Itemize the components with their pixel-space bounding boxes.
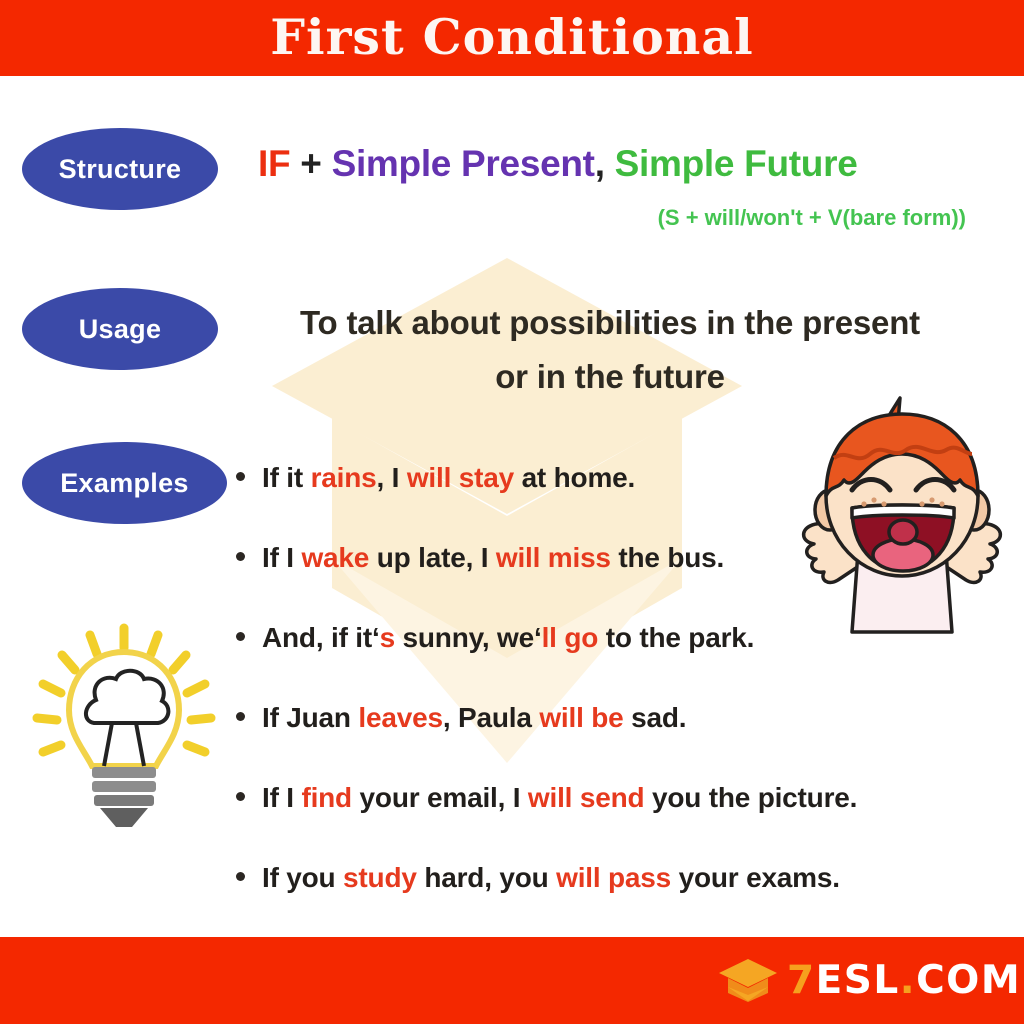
label-examples-text: Examples — [60, 468, 188, 499]
sentence-text: you the picture. — [644, 782, 857, 813]
highlighted-verb: will miss — [496, 542, 611, 573]
example-sentence: If I wake up late, I will miss the bus. — [262, 542, 724, 574]
label-structure: Structure — [22, 128, 218, 210]
page-title: First Conditional — [0, 0, 1024, 76]
example-item: If I find your email, I will send you th… — [236, 782, 966, 862]
label-usage: Usage — [22, 288, 218, 370]
highlighted-verb: ll go — [542, 622, 599, 653]
example-sentence: And, if it‘s sunny, we‘ll go to the park… — [262, 622, 754, 654]
example-sentence: If it rains, I will stay at home. — [262, 462, 635, 494]
sentence-text: , I — [377, 462, 407, 493]
bullet-icon — [236, 792, 245, 801]
sentence-text: If I — [262, 542, 301, 573]
logo-dot: . — [900, 958, 916, 1003]
highlighted-verb: leaves — [358, 702, 442, 733]
site-logo[interactable]: 7ESL.COM — [718, 952, 1021, 1008]
sentence-text: up late, I — [369, 542, 496, 573]
graduation-cap-icon — [718, 957, 778, 1003]
structure-formula: IF + Simple Present, Simple Future — [258, 143, 857, 185]
sentence-text: , Paula — [443, 702, 539, 733]
logo-seven: 7 — [787, 958, 816, 1003]
sentence-text: hard, you — [417, 862, 556, 893]
token-plus: + — [290, 143, 331, 184]
label-usage-text: Usage — [79, 314, 162, 345]
sentence-text: If I — [262, 782, 301, 813]
structure-subtitle: (S + will/won't + V(bare form)) — [0, 205, 966, 231]
example-sentence: If I find your email, I will send you th… — [262, 782, 857, 814]
token-simple-future: Simple Future — [615, 143, 858, 184]
lightbulb-icon — [24, 622, 224, 837]
bullet-icon — [236, 472, 245, 481]
laughing-boy-illustration — [786, 392, 1018, 640]
logo-esl: ESL — [816, 958, 900, 1003]
sentence-text: your exams. — [671, 862, 840, 893]
highlighted-verb: rains — [311, 462, 377, 493]
sentence-text: your email, I — [352, 782, 528, 813]
highlighted-verb: will pass — [556, 862, 671, 893]
usage-description: To talk about possibilities in the prese… — [250, 296, 970, 404]
sentence-text: If it — [262, 462, 311, 493]
sentence-text: And, if it‘ — [262, 622, 380, 653]
sentence-text: If you — [262, 862, 343, 893]
token-simple-present: Simple Present — [332, 143, 595, 184]
bullet-icon — [236, 632, 245, 641]
sentence-text: sunny, we‘ — [395, 622, 542, 653]
bullet-icon — [236, 552, 245, 561]
highlighted-verb: wake — [301, 542, 369, 573]
usage-line-1: To talk about possibilities in the prese… — [250, 296, 970, 350]
sentence-text: If Juan — [262, 702, 358, 733]
highlighted-verb: find — [301, 782, 352, 813]
logo-wordmark: 7ESL.COM — [787, 958, 1021, 1003]
label-examples: Examples — [22, 442, 227, 524]
bullet-icon — [236, 872, 245, 881]
infographic-poster: First Conditional Structure Usage Exampl… — [0, 0, 1024, 1024]
example-item: If Juan leaves, Paula will be sad. — [236, 702, 966, 782]
token-if: IF — [258, 143, 290, 184]
sentence-text: at home. — [514, 462, 635, 493]
bullet-icon — [236, 712, 245, 721]
highlighted-verb: s — [380, 622, 395, 653]
label-structure-text: Structure — [59, 154, 182, 185]
sentence-text: to the park. — [598, 622, 754, 653]
sentence-text: sad. — [624, 702, 687, 733]
logo-com: COM — [916, 958, 1021, 1003]
highlighted-verb: will send — [528, 782, 644, 813]
highlighted-verb: will stay — [407, 462, 514, 493]
highlighted-verb: study — [343, 862, 417, 893]
example-sentence: If you study hard, you will pass your ex… — [262, 862, 840, 894]
sentence-text: the bus. — [611, 542, 724, 573]
highlighted-verb: will be — [539, 702, 623, 733]
example-item: If you study hard, you will pass your ex… — [236, 862, 966, 942]
example-sentence: If Juan leaves, Paula will be sad. — [262, 702, 686, 734]
token-comma: , — [595, 143, 615, 184]
